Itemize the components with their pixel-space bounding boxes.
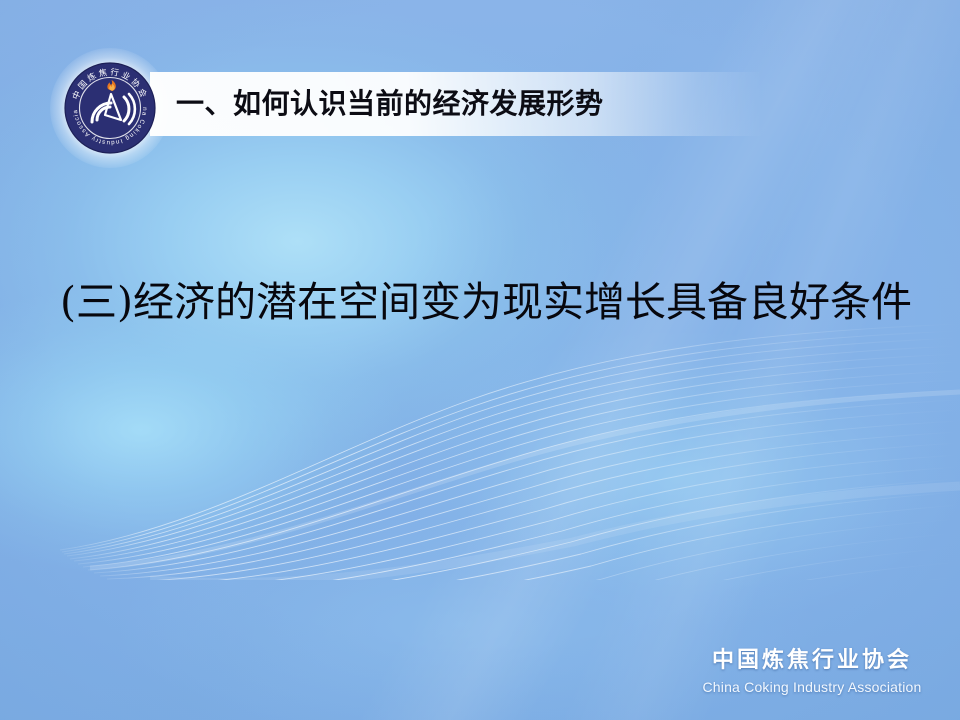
presentation-slide: 一、如何认识当前的经济发展形势 中国炼焦行业协会 China Coking In… — [0, 0, 960, 720]
footer-organization-en: China Coking Industry Association — [682, 678, 942, 696]
page-title: 一、如何认识当前的经济发展形势 — [176, 81, 604, 127]
association-logo: 中国炼焦行业协会 China Coking Industry Associati… — [64, 62, 156, 154]
footer-organization-cn: 中国炼焦行业协会 — [682, 645, 942, 675]
slide-heading: (三)经济的潜在空间变为现实增长具备良好条件 — [60, 276, 920, 328]
footer-branding: 中国炼焦行业协会 China Coking Industry Associati… — [682, 645, 942, 696]
association-logo-icon: 中国炼焦行业协会 China Coking Industry Associati… — [64, 62, 156, 154]
